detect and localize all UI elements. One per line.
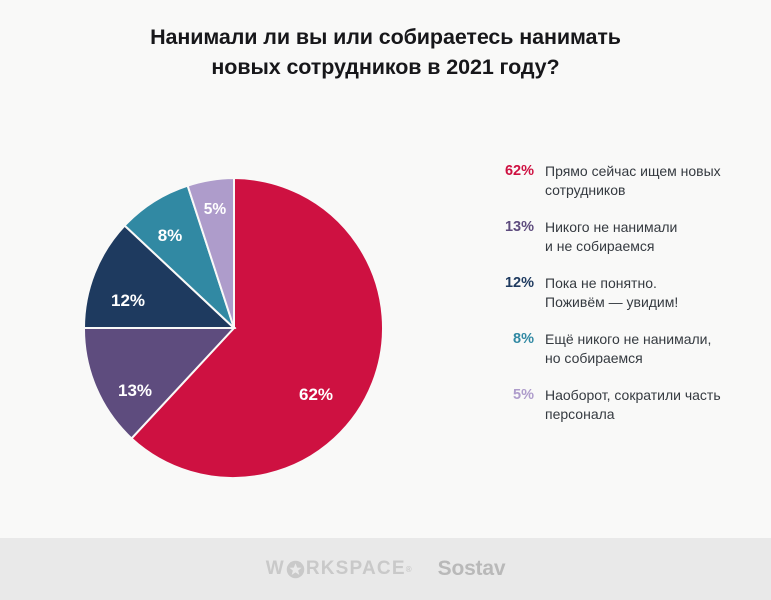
- legend-label-3-line-1: Ещё никого не нанимали,: [545, 331, 711, 347]
- legend-percent-2: 12%: [492, 274, 534, 293]
- legend-label-4-line-1: Наоборот, сократили часть: [545, 387, 721, 403]
- pie-slice-label-3: 8%: [158, 226, 183, 245]
- pie-chart: 62% 13% 12% 8% 5%: [84, 178, 384, 478]
- legend-label-4-line-2: персонала: [545, 405, 754, 424]
- legend-label-0-line-2: сотрудников: [545, 181, 754, 200]
- legend-label-2-line-1: Пока не понятно.: [545, 275, 657, 291]
- legend-label-3-line-2: но собираемся: [545, 349, 754, 368]
- pie-slice-label-2: 12%: [111, 291, 145, 310]
- star-icon: [286, 560, 305, 579]
- legend-label-3: Ещё никого не нанимали, но собираемся: [545, 330, 754, 368]
- pie-slices: [84, 178, 383, 478]
- legend-label-2-line-2: Поживём — увидим!: [545, 293, 754, 312]
- legend-label-0: Прямо сейчас ищем новых сотрудников: [545, 162, 754, 200]
- legend-label-4: Наоборот, сократили часть персонала: [545, 386, 754, 424]
- legend-percent-3: 8%: [492, 330, 534, 349]
- page-title: Нанимали ли вы или собираетесь нанимать …: [0, 22, 771, 82]
- pie-slice-label-1: 13%: [118, 381, 152, 400]
- legend-percent-0: 62%: [492, 162, 534, 181]
- workspace-logo[interactable]: W RKSPACE ®: [266, 558, 412, 580]
- workspace-trademark: ®: [406, 565, 412, 574]
- workspace-logo-text-end: RKSPACE: [306, 558, 406, 580]
- workspace-logo-text-start: W: [266, 558, 285, 580]
- legend-label-2: Пока не понятно. Поживём — увидим!: [545, 274, 754, 312]
- legend-label-0-line-1: Прямо сейчас ищем новых: [545, 163, 721, 179]
- page-title-line-2: новых сотрудников в 2021 году?: [0, 52, 771, 82]
- footer-bar: W RKSPACE ® Sostav: [0, 538, 771, 600]
- legend-percent-1: 13%: [492, 218, 534, 237]
- pie-slice-label-4: 5%: [204, 201, 227, 218]
- star-circle-icon: [286, 560, 305, 579]
- legend-label-1-line-1: Никого не нанимали: [545, 219, 677, 235]
- legend-item-3[interactable]: 8% Ещё никого не нанимали, но собираемся: [492, 330, 754, 368]
- legend-label-1-line-2: и не собираемся: [545, 237, 754, 256]
- legend-percent-4: 5%: [492, 386, 534, 405]
- legend-item-0[interactable]: 62% Прямо сейчас ищем новых сотрудников: [492, 162, 754, 200]
- legend-item-2[interactable]: 12% Пока не понятно. Поживём — увидим!: [492, 274, 754, 312]
- legend-label-1: Никого не нанимали и не собираемся: [545, 218, 754, 256]
- page-title-line-1: Нанимали ли вы или собираетесь нанимать: [0, 22, 771, 52]
- infographic-canvas: Нанимали ли вы или собираетесь нанимать …: [0, 0, 771, 600]
- legend-item-4[interactable]: 5% Наоборот, сократили часть персонала: [492, 386, 754, 424]
- sostav-logo[interactable]: Sostav: [438, 557, 506, 581]
- pie-chart-svg: 62% 13% 12% 8% 5%: [84, 178, 384, 478]
- chart-legend: 62% Прямо сейчас ищем новых сотрудников …: [492, 162, 754, 424]
- footer-logos: W RKSPACE ® Sostav: [0, 538, 771, 600]
- pie-slice-label-0: 62%: [299, 385, 333, 404]
- legend-item-1[interactable]: 13% Никого не нанимали и не собираемся: [492, 218, 754, 256]
